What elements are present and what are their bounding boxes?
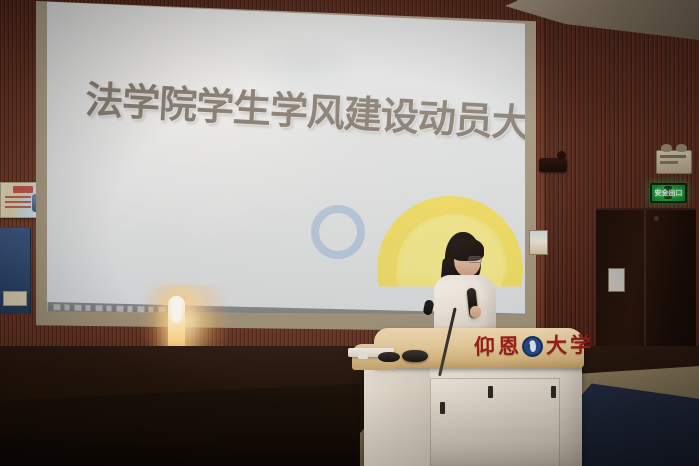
- podium-brand-char-4: 学: [570, 335, 591, 356]
- slide-blue-ring: [311, 205, 365, 259]
- podium-brand-char-3: 大: [546, 335, 567, 356]
- lecture-hall-photo: 法学院学生学风建设动员大会 安全出口: [0, 0, 699, 466]
- wall-notice-plate: [529, 230, 548, 255]
- emergency-exit-sign: 安全出口: [650, 183, 687, 203]
- speaker-glasses: [468, 256, 482, 263]
- speaker-person: [428, 232, 504, 342]
- mic-base-secondary: [378, 352, 400, 362]
- sign-plate-line-2: [660, 161, 678, 164]
- exit-sign-label: 安全出口: [655, 188, 683, 198]
- podium-front-panel: [430, 378, 560, 466]
- speaker-hand: [470, 306, 481, 318]
- poster-headline: [13, 186, 33, 193]
- podium-side-panel: [364, 364, 430, 466]
- ceiling-sign-plate: [656, 150, 692, 174]
- gooseneck-mic-base: [402, 350, 428, 362]
- podium-brand-logo: 仰 恩 大 学: [474, 335, 591, 358]
- notice-board-label: [3, 291, 27, 306]
- podium: 仰 恩 大 学: [352, 328, 584, 466]
- podium-paper: [358, 352, 368, 359]
- wall-mounted-speaker: [539, 158, 567, 172]
- podium-latch-right: [551, 386, 556, 398]
- podium-latch-left: [440, 402, 445, 414]
- wall-sconce-core: [171, 297, 182, 323]
- sign-plate-line-1: [660, 155, 686, 158]
- door-bolt: [654, 216, 659, 221]
- podium-top-surface: 仰 恩 大 学: [374, 328, 584, 368]
- podium-brand-char-2: 恩: [498, 336, 519, 357]
- door-notice-paper: [608, 268, 625, 292]
- slide-title: 法学院学生学风建设动员大会: [84, 81, 505, 142]
- podium-brand-char-1: 仰: [474, 337, 495, 358]
- university-seal-emblem: [522, 336, 543, 357]
- blue-notice-board: [0, 228, 31, 314]
- poster-text-lines: [5, 196, 31, 210]
- podium-latch-center: [488, 386, 493, 398]
